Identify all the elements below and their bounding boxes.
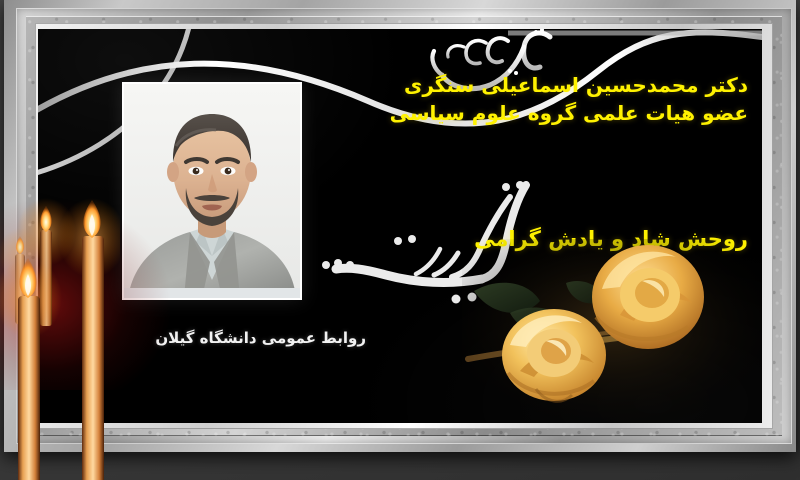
public-relations-credit: روابط عمومی دانشگاه گیلان bbox=[66, 329, 366, 347]
deceased-title-line: عضو هیات علمی گروه علوم سیاسی bbox=[318, 99, 748, 127]
condolence-phrase-line: روحش شاد و یادش گرامی bbox=[318, 225, 748, 255]
deceased-name-line: دکتر محمدحسین اسماعیلی سنگری bbox=[318, 71, 748, 99]
portrait-photo bbox=[124, 84, 300, 298]
yellow-roses-decoration bbox=[462, 239, 762, 423]
portrait-photo-frame bbox=[122, 82, 302, 300]
banner-canvas: دکتر محمدحسین اسماعیلی سنگری عضو هیات عل… bbox=[38, 29, 762, 423]
message-text-block: دکتر محمدحسین اسماعیلی سنگری عضو هیات عل… bbox=[318, 71, 748, 128]
memorial-banner: دکتر محمدحسین اسماعیلی سنگری عضو هیات عل… bbox=[0, 0, 800, 480]
